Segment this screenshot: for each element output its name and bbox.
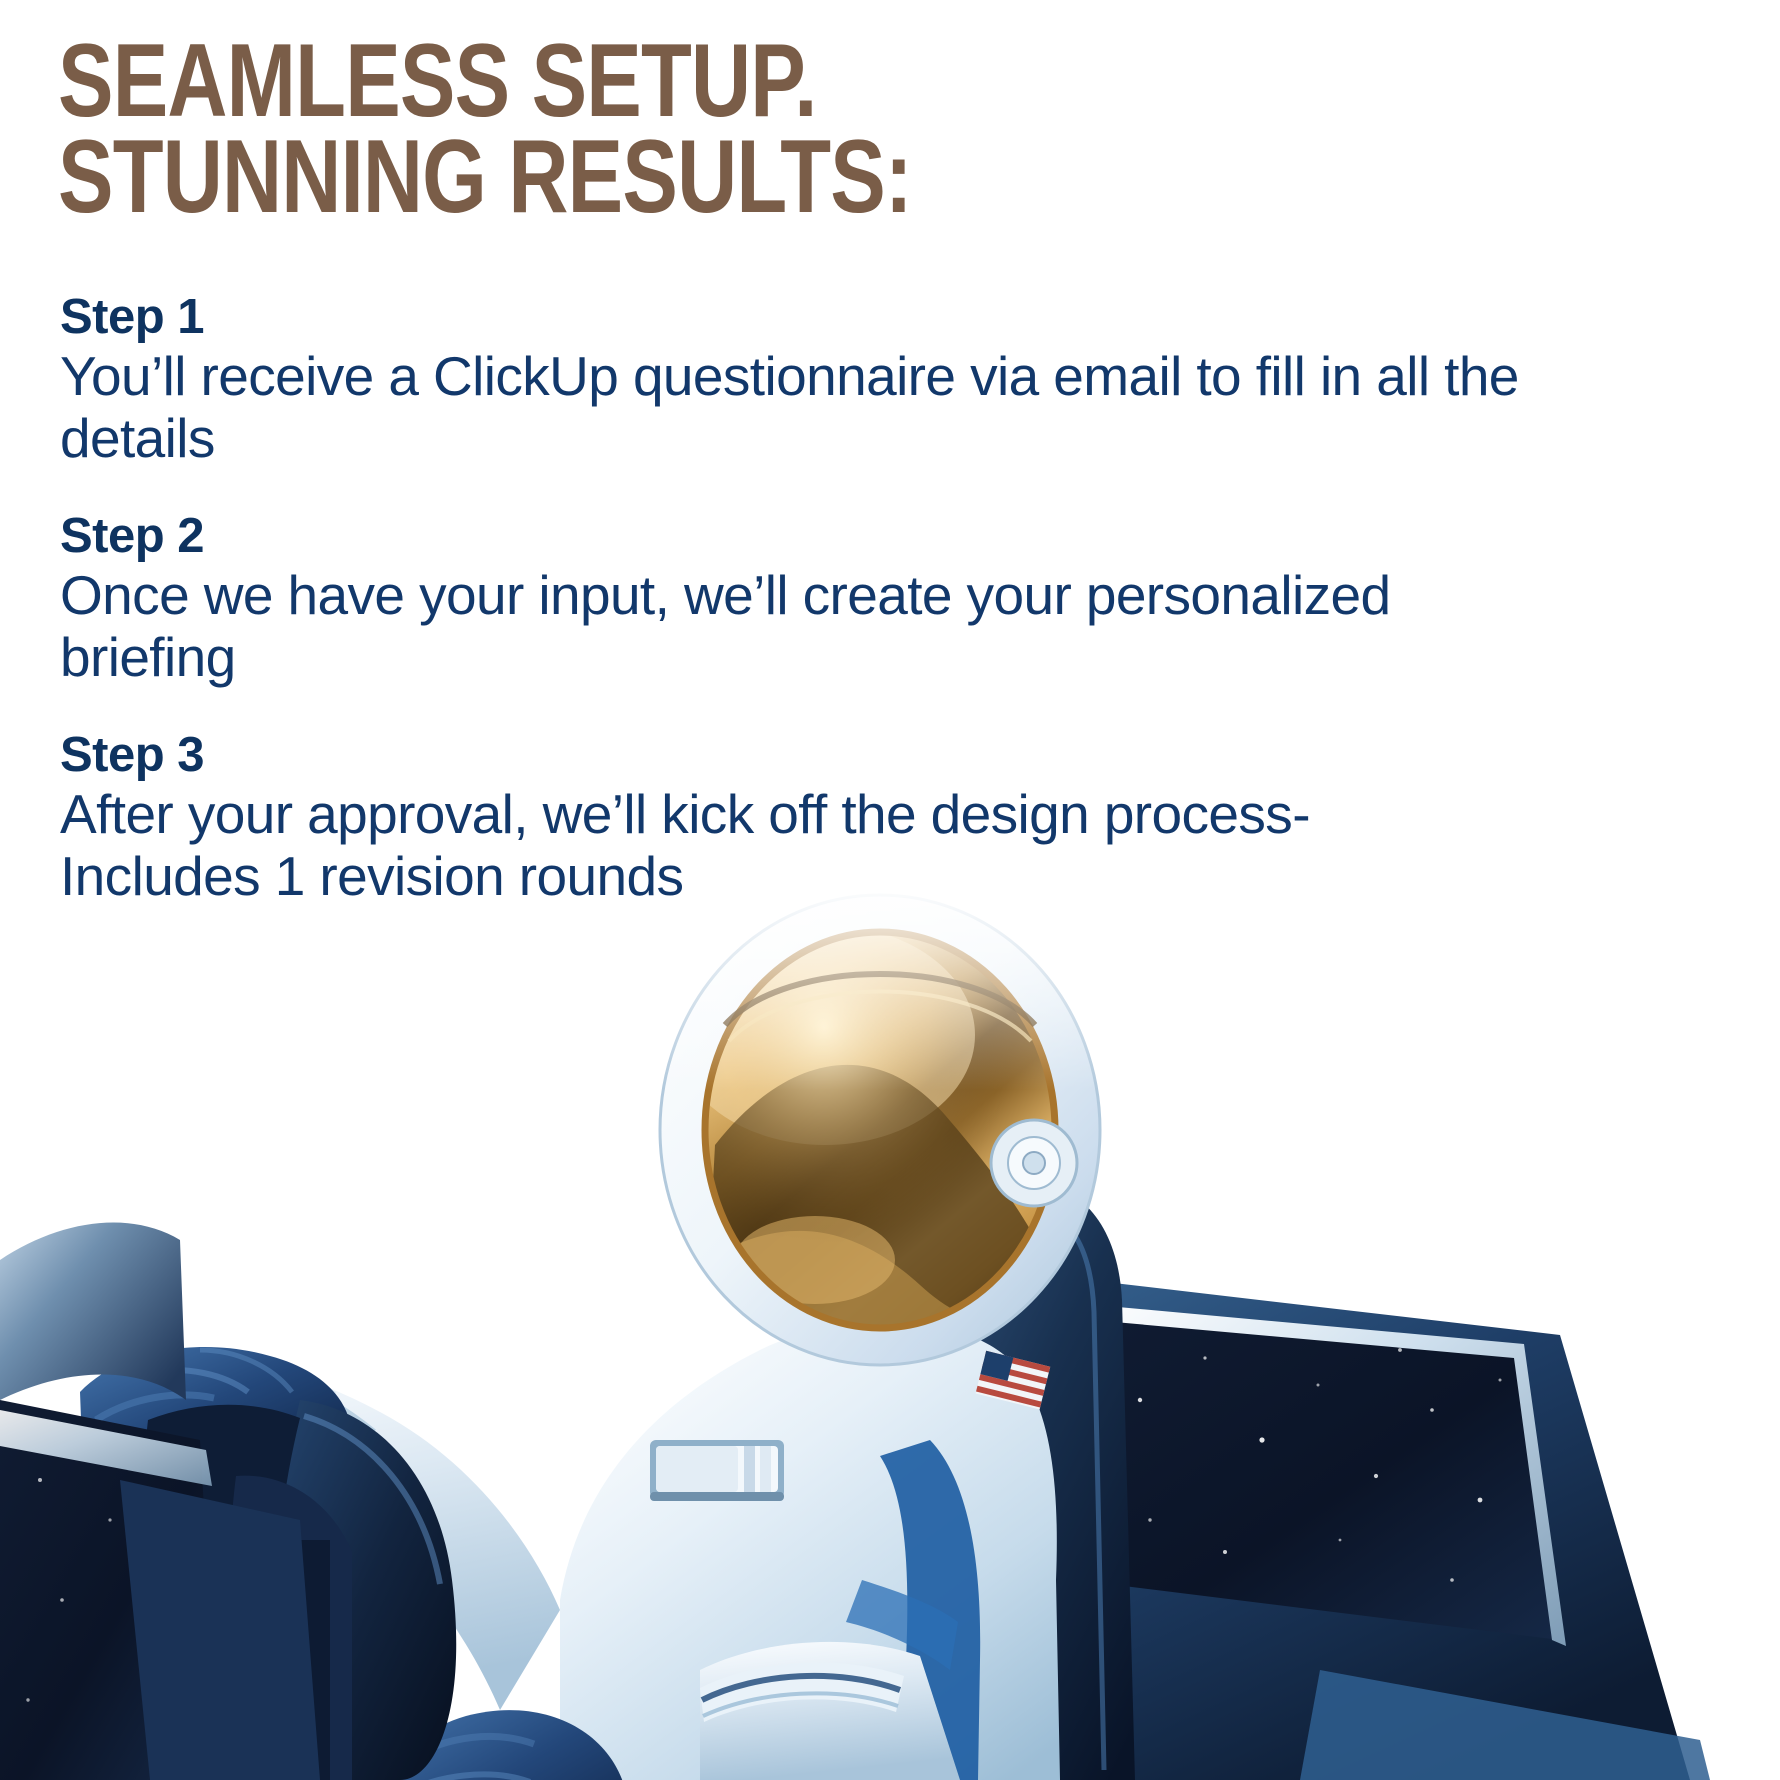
helmet-side-knob	[991, 1120, 1077, 1206]
step-item-1: Step 1 You’ll receive a ClickUp question…	[60, 292, 1540, 469]
suit-lower-arm	[700, 1642, 960, 1780]
headline-line-1: SEAMLESS SETUP.	[58, 34, 1178, 130]
step-2-body: Once we have your input, we’ll create yo…	[60, 565, 1520, 688]
step-item-3: Step 3 After your approval, we’ll kick o…	[60, 730, 1540, 907]
step-2-label: Step 2	[60, 511, 1540, 563]
step-1-body: You’ll receive a ClickUp questionnaire v…	[60, 346, 1520, 469]
poster-canvas: SEAMLESS SETUP. STUNNING RESULTS: Step 1…	[0, 0, 1780, 1780]
hood-upper	[0, 1223, 186, 1400]
step-3-label: Step 3	[60, 730, 1540, 782]
headline-line-2: STUNNING RESULTS:	[58, 130, 1178, 226]
step-3-body: After your approval, we’ll kick off the …	[60, 784, 1520, 907]
astronaut-driving-illustration	[0, 880, 1780, 1780]
step-item-2: Step 2 Once we have your input, we’ll cr…	[60, 511, 1540, 688]
chest-control-panel	[650, 1440, 784, 1501]
page-title: SEAMLESS SETUP. STUNNING RESULTS:	[58, 34, 1178, 225]
steps-list: Step 1 You’ll receive a ClickUp question…	[60, 292, 1540, 907]
dash-panel	[120, 1480, 320, 1780]
illustration-top-fade	[0, 880, 1780, 1090]
step-1-label: Step 1	[60, 292, 1540, 344]
